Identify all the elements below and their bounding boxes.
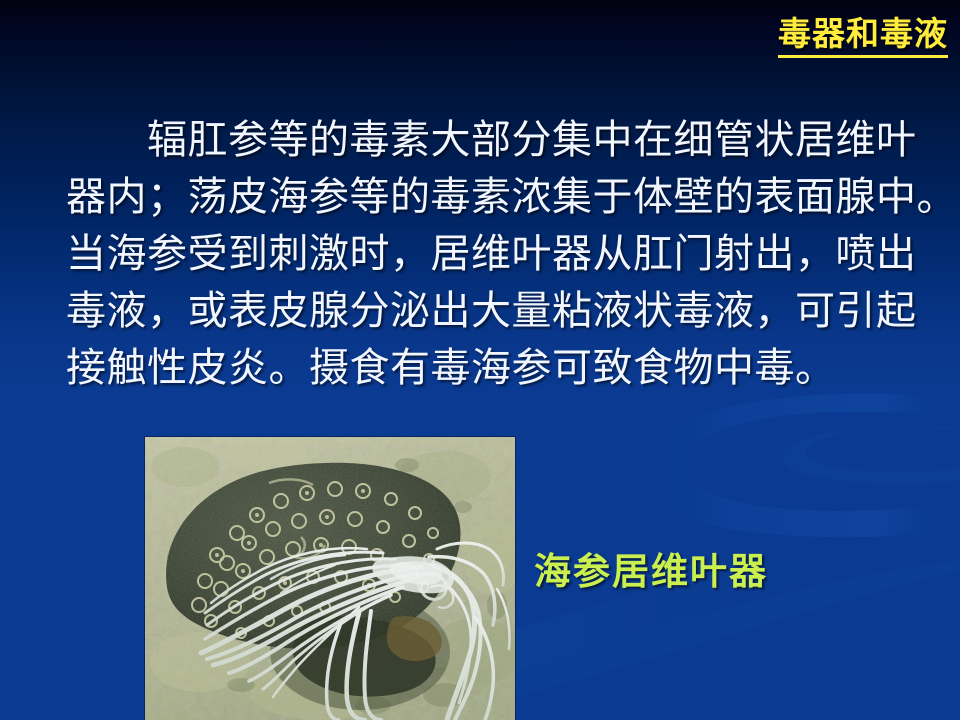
slide-body-text: 辐肛参等的毒素大部分集中在细管状居维叶 器内；荡皮海参等的毒素浓集于体壁的表面腺… [66, 112, 926, 397]
sea-cucumber-photo [145, 437, 515, 720]
body-line: 辐肛参等的毒素大部分集中在细管状居维叶 [66, 112, 926, 169]
photo-caption: 海参居维叶器 [534, 541, 768, 595]
body-line: 当海参受到刺激时，居维叶器从肛门射出，喷出 [66, 226, 926, 283]
body-line: 器内；荡皮海参等的毒素浓集于体壁的表面腺中。 [66, 169, 926, 226]
body-line: 毒液，或表皮腺分泌出大量粘液状毒液，可引起 [66, 283, 926, 340]
body-line: 接触性皮炎。摄食有毒海参可致食物中毒。 [66, 340, 926, 397]
presentation-slide: 毒器和毒液 辐肛参等的毒素大部分集中在细管状居维叶 器内；荡皮海参等的毒素浓集于… [0, 0, 960, 720]
slide-title: 毒器和毒液 [778, 17, 948, 58]
